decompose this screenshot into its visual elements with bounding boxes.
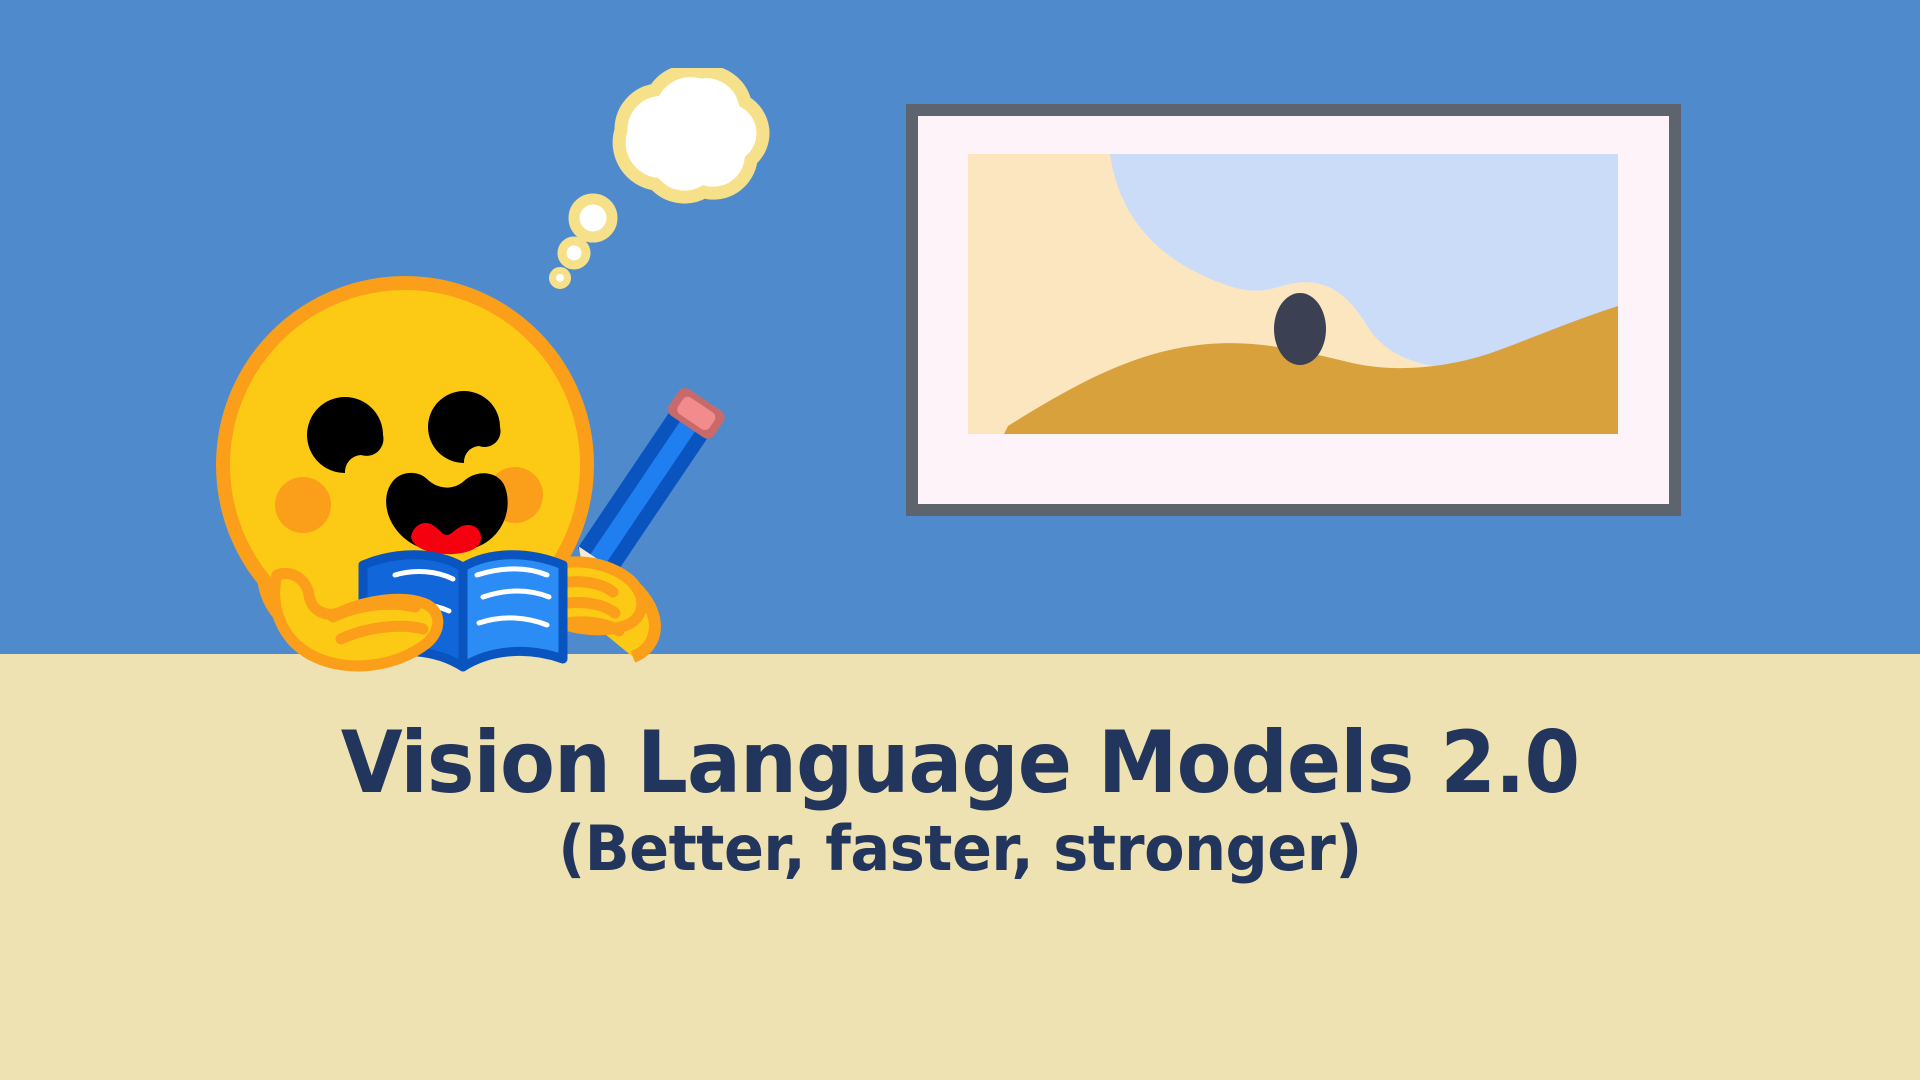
thought-bubble-dot-medium: [562, 241, 586, 265]
sun-oval-shape: [1274, 293, 1326, 365]
page-title: Vision Language Models 2.0: [67, 720, 1853, 808]
blush-left-icon: [275, 477, 331, 533]
slide-canvas: Vision Language Models 2.0 (Better, fast…: [0, 0, 1920, 1080]
character-svg: [215, 275, 775, 695]
title-block: Vision Language Models 2.0 (Better, fast…: [0, 720, 1920, 881]
thought-bubble: [548, 68, 778, 298]
thought-bubble-svg: [548, 68, 778, 298]
thought-bubble-dot-large: [574, 199, 612, 237]
artwork-image: [968, 154, 1618, 434]
picture-frame: [906, 104, 1681, 516]
smiley-reading-character: [215, 275, 775, 695]
page-subtitle: (Better, faster, stronger): [48, 816, 1872, 881]
abstract-landscape-svg: [968, 154, 1618, 434]
thought-bubble-cloud: [619, 71, 763, 197]
picture-matte: [918, 116, 1669, 504]
